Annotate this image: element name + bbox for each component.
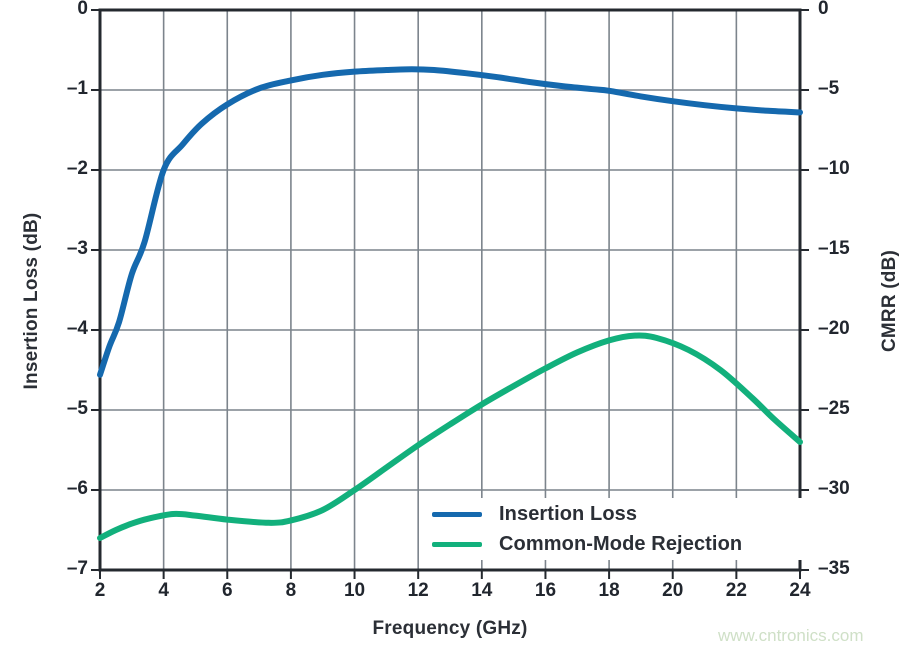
x-tick-label: 6 <box>197 580 257 602</box>
x-tick-label: 12 <box>388 580 448 602</box>
y-tick-label-left: –5 <box>28 398 88 420</box>
x-tick-label: 14 <box>452 580 512 602</box>
x-tick-label: 18 <box>579 580 639 602</box>
y-tick-label-left: –4 <box>28 318 88 340</box>
tick-marks <box>91 10 809 579</box>
legend-swatch-common-mode-rejection <box>432 542 482 547</box>
chart-figure: Insertion Loss (dB) CMRR (dB) Frequency … <box>0 0 900 659</box>
y-tick-label-right: 0 <box>818 0 888 20</box>
y-tick-label-right: –20 <box>818 318 888 340</box>
plot-frame <box>100 10 800 570</box>
y-tick-label-left: –1 <box>28 78 88 100</box>
x-tick-label: 2 <box>70 580 130 602</box>
x-tick-label: 16 <box>515 580 575 602</box>
y-tick-label-left: –7 <box>28 558 88 580</box>
x-tick-label: 10 <box>325 580 385 602</box>
legend-item-insertion-loss: Insertion Loss <box>432 500 637 528</box>
watermark-text: www.cntronics.com <box>718 626 863 646</box>
gridlines <box>100 10 800 570</box>
y-tick-label-left: –2 <box>28 158 88 180</box>
y-tick-label-right: –25 <box>818 398 888 420</box>
chart-legend: Insertion Loss Common-Mode Rejection <box>420 498 802 560</box>
y-tick-label-right: –30 <box>818 478 888 500</box>
y-tick-label-left: –3 <box>28 238 88 260</box>
y-tick-label-right: –15 <box>818 238 888 260</box>
x-tick-label: 4 <box>134 580 194 602</box>
legend-label-insertion-loss: Insertion Loss <box>499 503 637 526</box>
x-tick-label: 24 <box>770 580 830 602</box>
plot-area <box>0 0 900 659</box>
y-tick-label-right: –5 <box>818 78 888 100</box>
legend-swatch-insertion-loss <box>432 512 482 517</box>
y-tick-label-right: –10 <box>818 158 888 180</box>
legend-label-common-mode-rejection: Common-Mode Rejection <box>499 533 742 556</box>
x-tick-label: 22 <box>706 580 766 602</box>
series-line-insertion-loss <box>100 69 800 375</box>
x-tick-label: 20 <box>643 580 703 602</box>
x-tick-label: 8 <box>261 580 321 602</box>
y-tick-label-left: –6 <box>28 478 88 500</box>
legend-item-common-mode-rejection: Common-Mode Rejection <box>432 530 742 558</box>
y-tick-label-right: –35 <box>818 558 888 580</box>
y-tick-label-left: 0 <box>28 0 88 20</box>
